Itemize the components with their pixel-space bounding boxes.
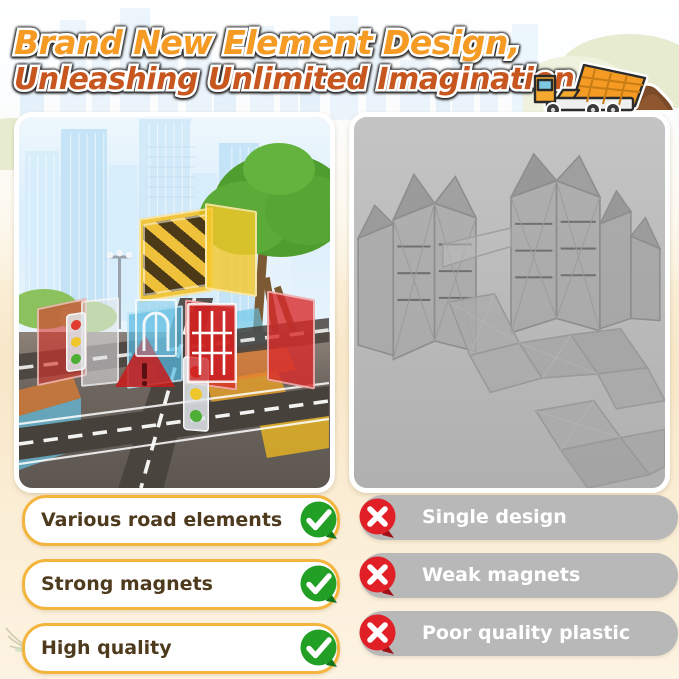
pro-row-1[interactable]: Various road elements [22, 495, 340, 546]
pro-row-3[interactable]: High quality [22, 623, 340, 674]
header: Brand New Element Design, Unleashing Unl… [0, 26, 679, 116]
cross-circle-icon [356, 553, 401, 598]
cross-circle-icon [356, 495, 401, 540]
page-title-line2: Unleashing Unlimited Imagination [14, 65, 554, 95]
con-label-1: Single design [422, 508, 567, 527]
check-circle-icon [296, 562, 341, 607]
pro-label-3: High quality [41, 639, 172, 658]
pros-column: Various road elements Strong magnets [22, 495, 340, 679]
dump-truck-icon [527, 40, 673, 120]
pro-label-2: Strong magnets [41, 575, 213, 594]
page-title-line1: Brand New Element Design, [14, 26, 554, 59]
comparison-section: Various road elements Strong magnets [0, 495, 679, 679]
con-label-3: Poor quality plastic [422, 624, 630, 643]
check-circle-icon [296, 498, 341, 543]
traffic-light-tile-1 [66, 312, 86, 373]
check-circle-icon [296, 626, 341, 671]
cross-circle-icon [356, 611, 401, 656]
product-photo-color [14, 112, 335, 493]
con-label-2: Weak magnets [422, 566, 580, 585]
pro-label-1: Various road elements [41, 511, 282, 530]
header-title-block: Brand New Element Design, Unleashing Unl… [14, 26, 554, 95]
cons-column: Single design Weak magnets Poo [360, 495, 678, 669]
competitor-photo-gray [349, 112, 670, 493]
con-row-2[interactable]: Weak magnets [360, 553, 678, 598]
con-row-1[interactable]: Single design [360, 495, 678, 540]
infographic-root: Brand New Element Design, Unleashing Unl… [0, 0, 679, 679]
con-row-3[interactable]: Poor quality plastic [360, 611, 678, 656]
pro-row-2[interactable]: Strong magnets [22, 559, 340, 610]
